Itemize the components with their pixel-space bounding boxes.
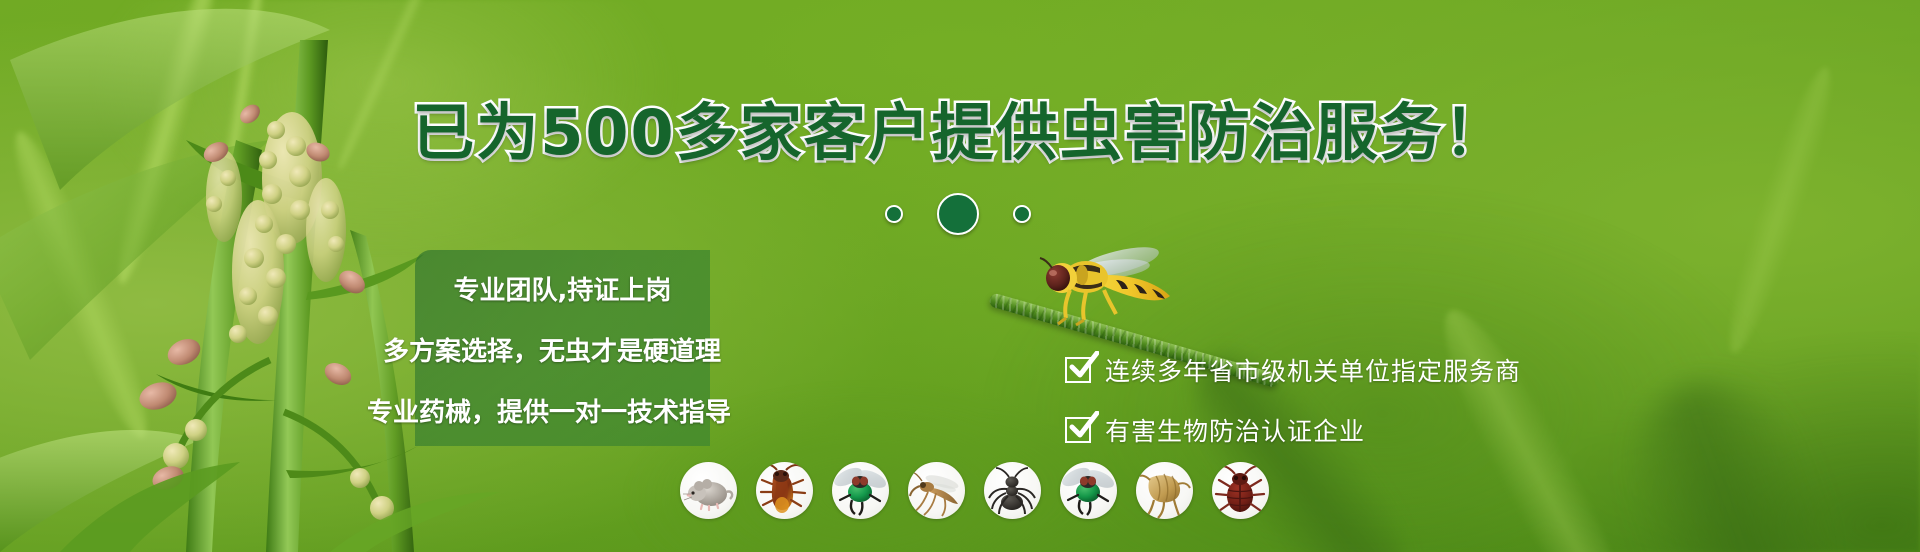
fly-green-icon[interactable]	[1060, 462, 1117, 519]
credential-text: 连续多年省市级机关单位指定服务商	[1105, 352, 1521, 388]
pest-control-hero-banner: 已为500多家客户提供虫害防治服务！ 专业团队,持证上岗 多方案选择，无虫才是硬…	[0, 0, 1920, 552]
banner-headline: 已为500多家客户提供虫害防治服务！	[0, 82, 1920, 172]
credentials-list: 连续多年省市级机关单位指定服务商 有害生物防治认证企业	[1065, 340, 1521, 460]
cockroach-icon[interactable]	[756, 462, 813, 519]
slogan-line-3: 专业药械，提供一对一技术指导	[367, 392, 694, 429]
dot-large-center-icon	[937, 193, 979, 235]
slogan-line-2: 多方案选择，无虫才是硬道理	[383, 331, 694, 368]
slogan-panel: 专业团队,持证上岗 多方案选择，无虫才是硬道理 专业药械，提供一对一技术指导	[415, 250, 710, 446]
mouse-icon[interactable]	[680, 462, 737, 519]
credential-text: 有害生物防治认证企业	[1105, 412, 1365, 448]
decorative-dot-row	[885, 193, 1031, 235]
pest-icon-strip	[680, 462, 1269, 519]
dot-small-right-icon	[1013, 205, 1031, 223]
dot-small-left-icon	[885, 205, 903, 223]
slogan-line-1: 专业团队,持证上岗	[431, 270, 694, 307]
headline-text: 已为500多家客户提供虫害防治服务！	[412, 82, 1507, 172]
fly-icon[interactable]	[832, 462, 889, 519]
ant-icon[interactable]	[984, 462, 1041, 519]
credential-row: 连续多年省市级机关单位指定服务商	[1065, 340, 1521, 400]
mosquito-icon[interactable]	[908, 462, 965, 519]
flea-icon[interactable]	[1136, 462, 1193, 519]
bedbug-icon[interactable]	[1212, 462, 1269, 519]
check-box-icon	[1065, 357, 1091, 383]
hoverfly-illustration	[1030, 242, 1180, 328]
check-box-icon	[1065, 417, 1091, 443]
credential-row: 有害生物防治认证企业	[1065, 400, 1521, 460]
